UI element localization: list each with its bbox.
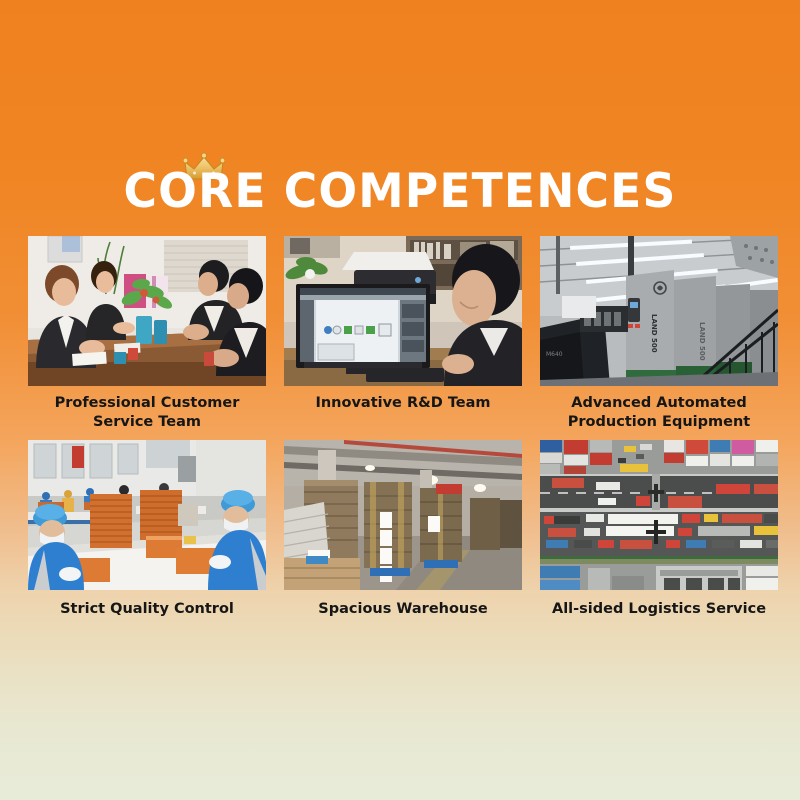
svg-text:LAND 500: LAND 500 bbox=[650, 314, 658, 353]
competence-card-advanced-automated-production-equipment[interactable]: LAND 500 LAND 500 M640 bbox=[540, 236, 778, 432]
competence-card-caption: Advanced Automated Production Equipment bbox=[540, 394, 778, 432]
warehouse-photo bbox=[284, 440, 522, 590]
quality-control-photo bbox=[28, 440, 266, 590]
designer-at-computer-photo bbox=[284, 236, 522, 386]
competence-card-caption: Professional Customer Service Team bbox=[28, 394, 266, 432]
printing-press-photo: LAND 500 LAND 500 M640 bbox=[540, 236, 778, 386]
competence-card-professional-customer-service-team[interactable]: Professional Customer Service Team bbox=[28, 236, 266, 432]
competence-card-caption: Strict Quality Control bbox=[28, 600, 266, 638]
competence-card-caption: Spacious Warehouse bbox=[284, 600, 522, 638]
competence-card-innovative-rd-team[interactable]: Innovative R&D Team bbox=[284, 236, 522, 432]
svg-text:M640: M640 bbox=[546, 351, 563, 358]
competence-card-spacious-warehouse[interactable]: Spacious Warehouse bbox=[284, 440, 522, 638]
logistics-aerial-photo bbox=[540, 440, 778, 590]
competence-card-caption: Innovative R&D Team bbox=[284, 394, 522, 432]
meeting-room-photo bbox=[28, 236, 266, 386]
competence-grid: Professional Customer Service Team bbox=[28, 236, 772, 638]
competence-row-bottom: Strict Quality Control bbox=[28, 440, 772, 638]
competence-card-strict-quality-control[interactable]: Strict Quality Control bbox=[28, 440, 266, 638]
page-title: CORE COMPETENCES bbox=[124, 150, 677, 215]
page-header: CORE COMPETENCES bbox=[0, 150, 800, 215]
competence-card-caption: All-sided Logistics Service bbox=[540, 600, 778, 638]
svg-text:LAND 500: LAND 500 bbox=[698, 322, 706, 361]
competence-row-top: Professional Customer Service Team bbox=[28, 236, 772, 432]
competence-card-all-sided-logistics-service[interactable]: All-sided Logistics Service bbox=[540, 440, 778, 638]
